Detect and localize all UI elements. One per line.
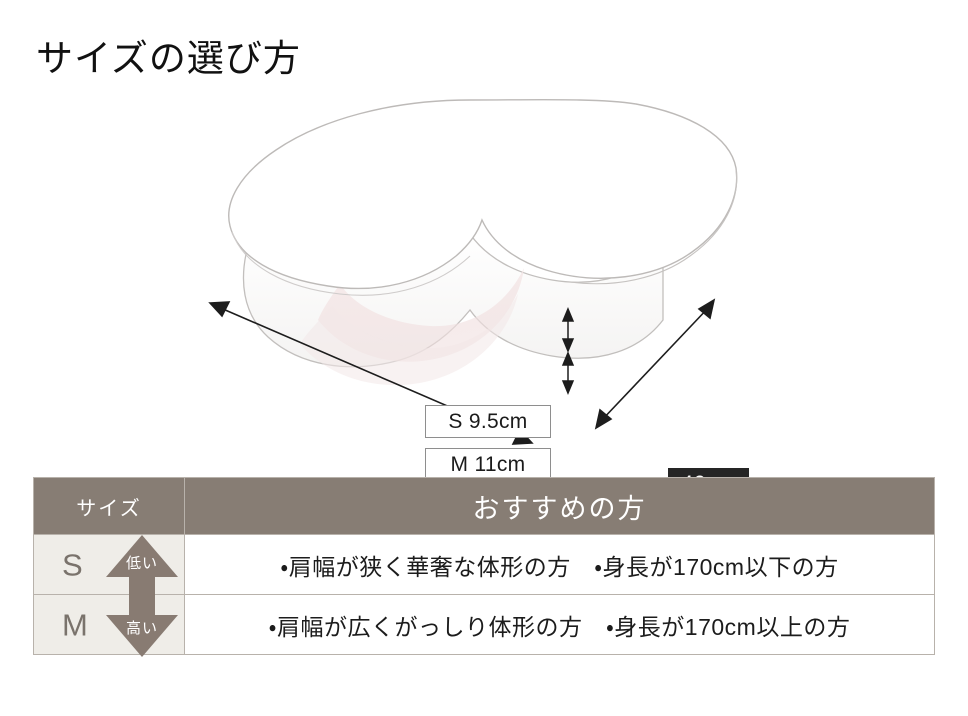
size-label-s: S <box>62 549 83 580</box>
pillow-illustration: S 9.5cm M 11cm 61cm 40cm <box>0 92 968 462</box>
recommendation-cell-m: ・肩幅が広くがっしり体形の方 ・身長が170cm以上の方 <box>185 595 935 655</box>
size-cell-s: S <box>34 535 185 595</box>
table-header-row: サイズ おすすめの方 <box>34 478 935 535</box>
table-row: M ・肩幅が広くがっしり体形の方 ・身長が170cm以上の方 <box>34 595 935 655</box>
column-header-recommended: おすすめの方 <box>185 478 935 535</box>
column-header-size: サイズ <box>34 478 185 535</box>
page-title: サイズの選び方 <box>36 38 301 81</box>
size-label-m: M <box>62 609 88 640</box>
size-guide-table: サイズ おすすめの方 S ・肩幅が狭く華奢な体形の方 ・身長が170cm以下の方… <box>33 477 935 655</box>
recommendation-cell-s: ・肩幅が狭く華奢な体形の方 ・身長が170cm以下の方 <box>185 535 935 595</box>
table-row: S ・肩幅が狭く華奢な体形の方 ・身長が170cm以下の方 <box>34 535 935 595</box>
height-m-arrow <box>563 353 573 393</box>
height-callout-s: S 9.5cm <box>425 405 551 438</box>
size-cell-m: M <box>34 595 185 655</box>
size-table-head: サイズ おすすめの方 <box>34 478 935 535</box>
size-table-body: S ・肩幅が狭く華奢な体形の方 ・身長が170cm以下の方 M ・肩幅が広くがっ… <box>34 535 935 655</box>
